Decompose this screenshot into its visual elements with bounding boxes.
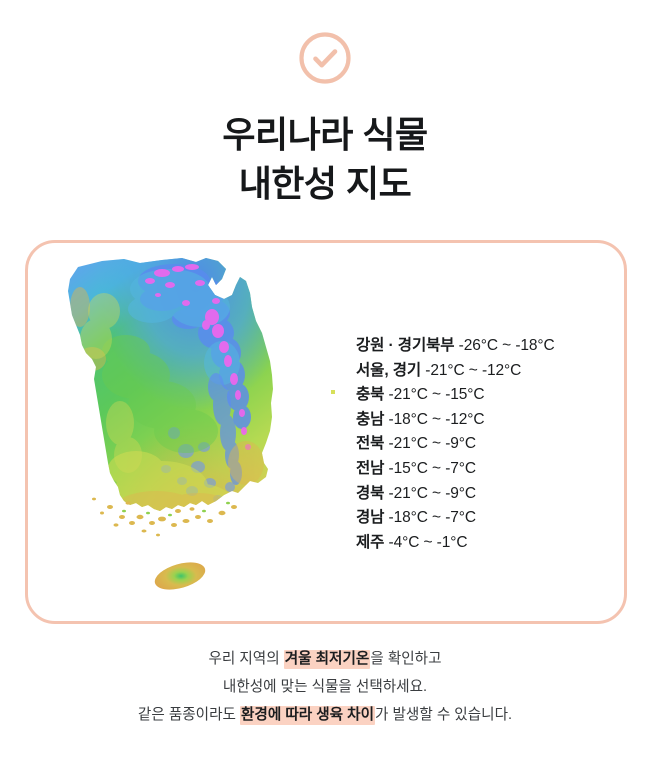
hardiness-map-infographic: 우리나라 식물 내한성 지도 (0, 0, 650, 771)
legend-region: 경남 (356, 509, 384, 526)
legend-row: 제주 -4°C ~ -1°C (356, 531, 620, 556)
legend-region: 강원 · 경기북부 (356, 337, 454, 354)
legend-region: 충북 (356, 386, 384, 403)
legend-region: 경북 (356, 485, 384, 502)
footer-line-3-pre: 같은 품종이라도 (138, 707, 240, 723)
footer-highlight-winter-min-temp: 겨울 최저기온 (284, 650, 371, 669)
footer-line-3-post: 가 발생할 수 있습니다. (375, 707, 512, 723)
map-stray-pixel (331, 390, 335, 394)
page-title-line-2: 내한성 지도 (0, 159, 650, 208)
footer-line-1-pre: 우리 지역의 (208, 651, 283, 667)
legend-range: -15°C ~ -7°C (389, 460, 476, 477)
legend-range: -4°C ~ -1°C (389, 534, 468, 551)
legend-range: -26°C ~ -18°C (459, 337, 555, 354)
legend-row: 경남 -18°C ~ -7°C (356, 506, 620, 531)
legend-region: 서울, 경기 (356, 362, 421, 379)
legend-range: -21°C ~ -12°C (425, 362, 521, 379)
legend-range: -18°C ~ -7°C (389, 509, 476, 526)
footer-highlight-growth-variation: 환경에 따라 생육 차이 (240, 706, 375, 725)
legend-range: -18°C ~ -12°C (389, 411, 485, 428)
legend-row: 전북 -21°C ~ -9°C (356, 432, 620, 457)
footer-line-3: 같은 품종이라도 환경에 따라 생육 차이가 발생할 수 있습니다. (0, 701, 650, 729)
legend-range: -21°C ~ -15°C (389, 386, 485, 403)
legend-row: 충북 -21°C ~ -15°C (356, 383, 620, 408)
check-circle-icon (299, 32, 351, 84)
legend-row: 충남 -18°C ~ -12°C (356, 408, 620, 433)
page-title-line-1: 우리나라 식물 (0, 110, 650, 159)
legend-region: 전남 (356, 460, 384, 477)
page-title: 우리나라 식물 내한성 지도 (0, 110, 650, 208)
footer-line-2: 내한성에 맞는 식물을 선택하세요. (0, 673, 650, 701)
footer-line-1: 우리 지역의 겨울 최저기온을 확인하고 (0, 645, 650, 673)
footer-note: 우리 지역의 겨울 최저기온을 확인하고 내한성에 맞는 식물을 선택하세요. … (0, 645, 650, 729)
legend-range: -21°C ~ -9°C (389, 485, 476, 502)
legend-region: 전북 (356, 435, 384, 452)
korea-hardiness-map (66, 255, 298, 597)
legend-row: 서울, 경기 -21°C ~ -12°C (356, 359, 620, 384)
hardiness-legend-list: 강원 · 경기북부 -26°C ~ -18°C 서울, 경기 -21°C ~ -… (356, 334, 620, 555)
legend-row: 경북 -21°C ~ -9°C (356, 482, 620, 507)
footer-line-1-post: 을 확인하고 (370, 651, 441, 667)
legend-row: 강원 · 경기북부 -26°C ~ -18°C (356, 334, 620, 359)
legend-range: -21°C ~ -9°C (389, 435, 476, 452)
legend-region: 제주 (356, 534, 384, 551)
legend-region: 충남 (356, 411, 384, 428)
legend-row: 전남 -15°C ~ -7°C (356, 457, 620, 482)
